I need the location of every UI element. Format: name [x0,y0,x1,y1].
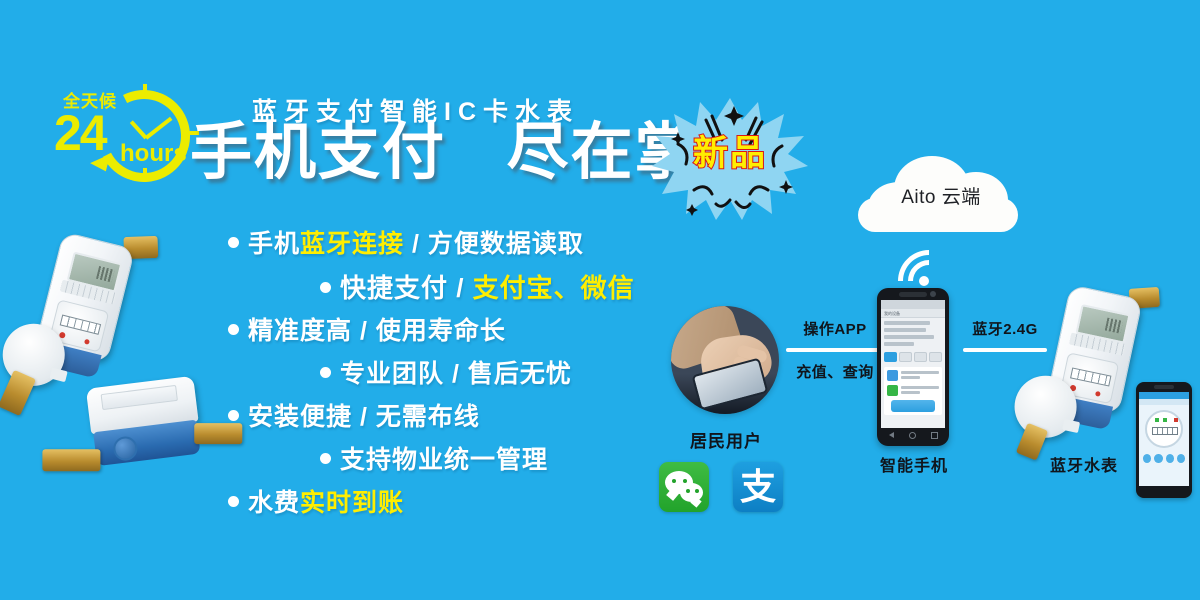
minphone-action-button[interactable] [1154,454,1162,463]
minphone-action-button[interactable] [1166,454,1174,463]
app-info-row [884,342,914,346]
diagram-connector-line [786,348,884,352]
bluetooth-water-meter [1032,292,1152,442]
minphone-navigation-bar[interactable] [1139,486,1189,494]
ic-card-water-meter [27,231,151,398]
cloud-label: Aito 云端 [858,182,1024,209]
diagram-label-recharge-query: 充值、查询 [786,361,884,382]
minphone-action-button[interactable] [1143,454,1151,463]
app-confirm-pay-button[interactable] [891,400,935,412]
wechat-eye [672,479,676,483]
meter-brass-outlet [0,370,36,416]
badge-hours-label: hours [120,142,187,166]
list-item: 精准度高 / 使用寿命长 [228,319,698,344]
app-payment-option-alipay[interactable] [887,370,939,381]
clock-tick-bottom [143,168,147,181]
app-info-row [884,335,934,339]
bullet-suffix: / 方便数据读取 [404,230,584,258]
app-status-bar [881,300,945,309]
phone-recents-button[interactable] [931,432,938,439]
bullet-dot-icon [228,237,239,248]
minphone-action-button[interactable] [1177,454,1185,463]
diagram-label-user: 居民用户 [676,427,776,452]
wechat-eye [686,489,690,493]
app-payment-option-wechat[interactable] [887,385,939,396]
minphone-speaker [1154,385,1174,389]
phone-camera [930,291,936,297]
smartphone-device: 我的设备 [877,288,949,446]
diagram-link-app: 操作APP 充值、查询 [786,318,884,382]
phone-navigation-bar[interactable] [881,430,945,440]
bullet-highlight: 实时到账 [300,489,404,517]
bullet-dot-icon [228,496,239,507]
bullet-prefix: 快捷支付 / [340,273,473,303]
dial-green-indicator [1163,418,1167,422]
promo-banner: 全天候 24 hours 蓝牙支付智能IC卡水表 手机支付 尽在掌握 [0,0,1200,600]
app-tab[interactable] [884,352,897,362]
valve-meter-brass-left [42,449,100,471]
badge-number: 24 [54,108,106,158]
alipay-glyph: 支 [733,465,783,509]
hand-holding-phone-photo [671,306,779,414]
meter-digit-register [60,315,101,335]
new-product-label: 新品 [650,136,810,171]
minphone-action-buttons[interactable] [1139,448,1189,463]
bullet-dot-icon [320,367,331,378]
new-product-burst: 新品 [650,92,810,222]
app-info-row [884,328,926,332]
valve-meter-label-plate [101,385,178,410]
wechat-bubble-small [680,483,703,502]
valve-water-meter [86,372,238,498]
minphone-screen [1139,392,1189,486]
bullet-prefix: 水费 [248,489,300,517]
minphone-app-header [1139,392,1189,399]
app-payment-card [884,367,942,415]
bullet-prefix: 支持物业统一管理 [340,446,548,474]
alipay-icon[interactable]: 支 [733,462,783,512]
list-item: 手机蓝牙连接 / 方便数据读取 [228,232,698,257]
app-tab-row[interactable] [881,352,945,365]
phone-screen: 我的设备 [881,300,945,428]
app-info-rows [881,318,945,352]
meter-reading-app-phone [1136,382,1192,498]
list-item: 快捷支付 / 支付宝、微信 [320,275,698,301]
bullet-dot-icon [320,282,331,293]
bullet-highlight: 蓝牙连接 [300,230,404,258]
minphone-app-subheader [1139,399,1189,405]
phone-back-button[interactable] [889,432,894,438]
dial-red-indicator [1174,418,1178,422]
app-tab[interactable] [929,352,942,362]
wechat-eye [683,479,687,483]
app-tab[interactable] [899,352,912,362]
bullet-prefix: 手机 [248,230,300,258]
clock-tick-top [143,84,147,97]
app-tab[interactable] [914,352,927,362]
bullet-prefix: 安装便捷 / 无需布线 [248,403,480,431]
list-item: 水费实时到账 [228,491,698,516]
bullet-prefix: 专业团队 / 售后无忧 [340,360,572,388]
bullet-prefix: 精准度高 / 使用寿命长 [248,317,506,345]
wechat-small-icon [887,385,898,396]
phone-home-button[interactable] [909,432,916,439]
wechat-eye [695,489,699,493]
feature-bullet-list: 手机蓝牙连接 / 方便数据读取 快捷支付 / 支付宝、微信 精准度高 / 使用寿… [228,232,698,516]
diagram-label-bluetooth-meter: 蓝牙水表 [1024,452,1144,476]
cloud-icon: Aito 云端 [858,152,1024,236]
minphone-meter-dial [1145,410,1183,448]
diagram-label-operate-app: 操作APP [786,318,884,339]
app-nav-bar: 我的设备 [881,309,945,318]
list-item: 安装便捷 / 无需布线 [228,405,698,430]
bullet-highlight: 支付宝、微信 [473,273,635,303]
bullet-dot-icon [228,324,239,335]
banner-title-part1: 手机支付 [190,118,446,187]
alipay-small-icon [887,370,898,381]
wifi-icon [898,250,950,288]
right-meter-red-indicator-2 [1095,391,1101,397]
diagram-label-smartphone: 智能手机 [862,452,966,476]
wechat-pay-icon[interactable] [659,462,709,512]
list-item: 专业团队 / 售后无忧 [320,362,698,387]
wifi-dot [919,276,929,286]
app-info-row [884,321,930,325]
24-hours-badge: 全天候 24 hours [46,82,206,190]
app-option-text [901,371,939,381]
meter-red-indicator-2 [84,339,90,345]
phone-speaker [899,292,927,297]
product-photo-water-meters [10,236,240,506]
dial-green-indicator [1155,418,1159,422]
bullet-dot-icon [320,453,331,464]
app-option-text [901,386,939,396]
list-item: 支持物业统一管理 [320,448,698,473]
right-meter-digit-register [1070,367,1111,386]
dial-digit-register [1152,427,1178,435]
bullet-dot-icon [228,410,239,421]
